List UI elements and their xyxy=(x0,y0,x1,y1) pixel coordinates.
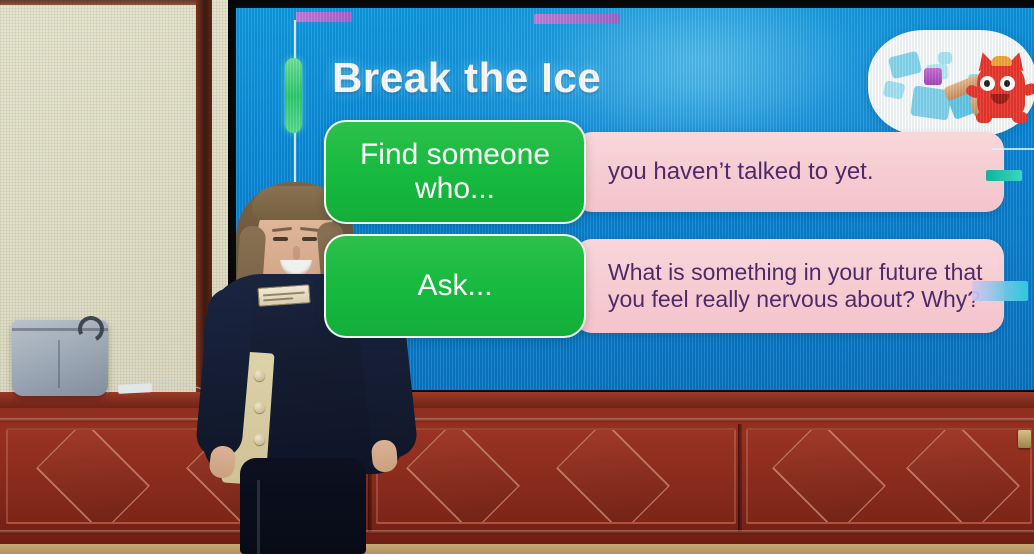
cabinet-latch-icon[interactable] xyxy=(1018,430,1031,448)
cabinet-rail-bottom xyxy=(0,530,1034,534)
monster-hat xyxy=(991,56,1012,66)
cabinet-seam xyxy=(738,424,742,532)
answer-text: you haven’t talked to yet. xyxy=(608,158,874,186)
cabinet-door[interactable] xyxy=(746,428,1032,524)
magenta-tick-icon xyxy=(296,12,352,22)
eye-left xyxy=(273,237,288,241)
monster-foot-right xyxy=(1012,112,1028,123)
mallet-head-icon xyxy=(924,68,942,85)
monster-eye-right xyxy=(1000,76,1015,91)
slide-title: Break the Ice xyxy=(332,54,601,102)
slide-row: Find someone who... you haven’t talked t… xyxy=(324,120,1004,224)
floor xyxy=(0,544,1034,554)
bag-seam xyxy=(58,340,60,388)
badge-text-line xyxy=(263,297,293,301)
name-badge xyxy=(257,284,310,307)
red-monster-icon xyxy=(972,46,1030,126)
prompt-box[interactable]: Ask... xyxy=(324,234,586,338)
badge-text-line xyxy=(263,292,305,297)
diamond-inlay xyxy=(772,428,886,524)
monster-pupil-left xyxy=(984,80,990,87)
prompt-box[interactable]: Find someone who... xyxy=(324,120,586,224)
leg-separation xyxy=(257,480,260,554)
diamond-inlay xyxy=(36,428,150,524)
ice-block-icon xyxy=(938,52,952,64)
monster-pupil-right xyxy=(1004,80,1010,87)
hairline-accent xyxy=(992,148,1034,150)
answer-text: What is something in your future that yo… xyxy=(608,259,984,312)
button-icon xyxy=(254,370,265,381)
cabinet-wall xyxy=(0,408,1034,548)
answer-box[interactable]: you haven’t talked to yet. xyxy=(574,132,1004,212)
presentation-screen[interactable]: Break the Ice xyxy=(236,8,1034,390)
green-capsule-icon xyxy=(285,58,302,133)
eyebrow-left xyxy=(272,227,292,232)
teal-accent-nub-icon xyxy=(986,170,1022,181)
answer-box[interactable]: What is something in your future that yo… xyxy=(574,239,1004,333)
eye-right xyxy=(302,237,317,241)
wall-frame-top xyxy=(0,0,200,5)
cabinet-rail-top xyxy=(0,418,1034,422)
slide-row: Ask... What is something in your future … xyxy=(324,234,1004,338)
classroom-scene: Break the Ice xyxy=(0,0,1034,554)
hand-right xyxy=(371,439,399,473)
diamond-inlay xyxy=(556,428,670,524)
button-icon xyxy=(254,402,265,413)
cabinet-door[interactable] xyxy=(376,428,736,524)
button-icon xyxy=(254,434,265,445)
monster-eye-left xyxy=(980,76,995,91)
diamond-inlay xyxy=(906,428,1020,524)
nose xyxy=(293,246,300,260)
teal-accent-nub-icon xyxy=(972,281,1028,301)
magenta-tick-icon xyxy=(534,14,620,24)
white-paper-on-desk xyxy=(118,383,152,394)
